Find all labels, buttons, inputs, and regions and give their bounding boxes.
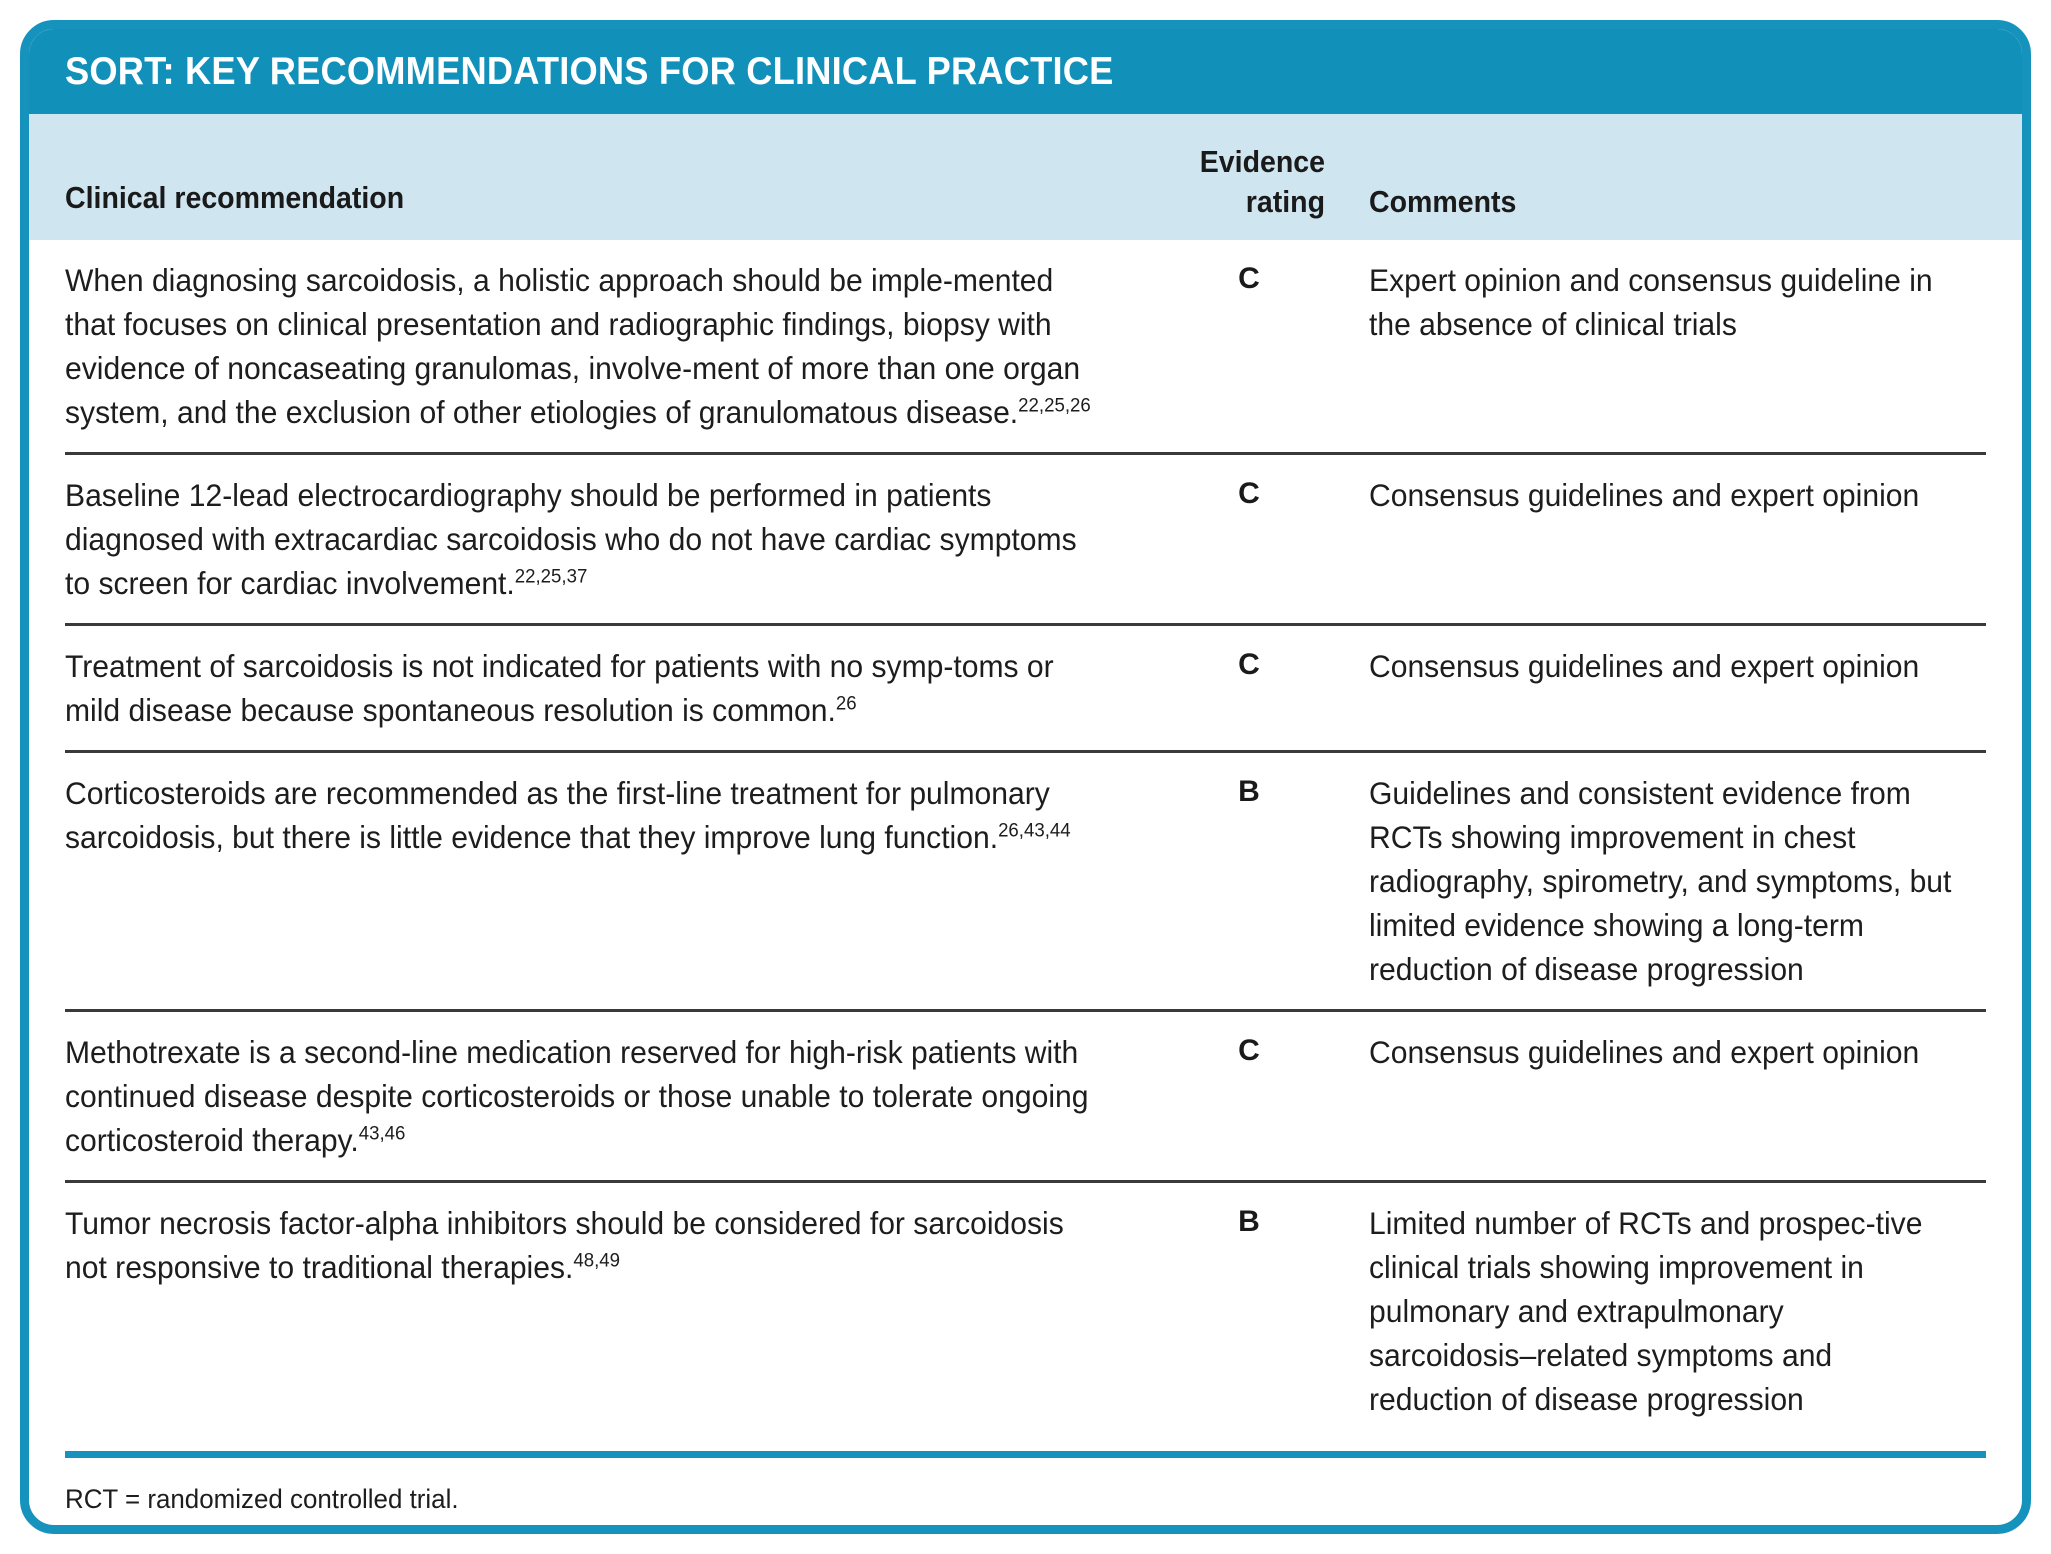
cell-comments: Limited number of RCTs and prospec-tive … — [1325, 1201, 1986, 1421]
table-row: Tumor necrosis factor-alpha inhibitors s… — [65, 1183, 1986, 1439]
page-title: SORT: KEY RECOMMENDATIONS FOR CLINICAL P… — [65, 50, 1114, 94]
cell-comments: Consensus guidelines and expert opinion — [1325, 644, 1986, 732]
recommendation-text: Treatment of sarcoidosis is not indicate… — [65, 648, 1054, 728]
footnote-divider — [65, 1451, 1986, 1458]
footnotes: RCT = randomized controlled trial. A = c… — [29, 1458, 2022, 1534]
cell-comments: Consensus guidelines and expert opinion — [1325, 1030, 1986, 1162]
cell-recommendation: Baseline 12-lead electrocardiography sho… — [65, 473, 1173, 605]
cell-comments: Guidelines and consistent evidence from … — [1325, 771, 1986, 991]
comments-text: Limited number of RCTs and prospec-tive … — [1369, 1201, 1958, 1421]
reference-superscript: 43,46 — [359, 1123, 406, 1145]
reference-superscript: 48,49 — [573, 1250, 620, 1272]
cell-recommendation: Corticosteroids are recommended as the f… — [65, 771, 1173, 991]
comments-text: Expert opinion and consensus guideline i… — [1369, 258, 1958, 346]
cell-recommendation: When diagnosing sarcoidosis, a holistic … — [65, 258, 1173, 434]
comments-text: Consensus guidelines and expert opinion — [1369, 1030, 1958, 1074]
table-row: Methotrexate is a second-line medication… — [65, 1012, 1986, 1183]
footnote-abbreviation: RCT = randomized controlled trial. — [65, 1480, 1909, 1518]
sort-recommendations-card: SORT: KEY RECOMMENDATIONS FOR CLINICAL P… — [20, 20, 2031, 1534]
recommendation-text: Methotrexate is a second-line medication… — [65, 1034, 1088, 1158]
table-row: Corticosteroids are recommended as the f… — [65, 753, 1986, 1012]
cell-evidence-rating: C — [1173, 644, 1325, 732]
cell-recommendation: Methotrexate is a second-line medication… — [65, 1030, 1173, 1162]
cell-evidence-rating: C — [1173, 473, 1325, 605]
reference-superscript: 22,25,37 — [515, 566, 588, 588]
reference-superscript: 26 — [836, 693, 857, 715]
table-row: Treatment of sarcoidosis is not indicate… — [65, 626, 1986, 753]
table-row: Baseline 12-lead electrocardiography sho… — [65, 455, 1986, 626]
comments-text: Guidelines and consistent evidence from … — [1369, 771, 1958, 991]
comments-text: Consensus guidelines and expert opinion — [1369, 644, 1958, 688]
comments-text: Consensus guidelines and expert opinion — [1369, 473, 1958, 517]
cell-evidence-rating: B — [1173, 1201, 1325, 1421]
table-column-headers: Clinical recommendation Evidence rating … — [29, 114, 2022, 240]
cell-evidence-rating: B — [1173, 771, 1325, 991]
reference-superscript: 26,43,44 — [998, 820, 1071, 842]
cell-comments: Expert opinion and consensus guideline i… — [1325, 258, 1986, 434]
table-row: When diagnosing sarcoidosis, a holistic … — [65, 240, 1986, 455]
column-header-evidence-line1: Evidence — [1187, 144, 1325, 180]
cell-comments: Consensus guidelines and expert opinion — [1325, 473, 1986, 605]
recommendation-text: Corticosteroids are recommended as the f… — [65, 775, 1050, 855]
recommendation-text: When diagnosing sarcoidosis, a holistic … — [65, 262, 1080, 430]
column-header-recommendation: Clinical recommendation — [65, 180, 404, 216]
footnote-spacer — [65, 1518, 1986, 1534]
cell-evidence-rating: C — [1173, 258, 1325, 434]
reference-superscript: 22,25,26 — [1018, 395, 1091, 417]
column-header-comments: Comments — [1369, 184, 1516, 220]
cell-evidence-rating: C — [1173, 1030, 1325, 1162]
column-header-evidence-line2: rating — [1187, 184, 1325, 220]
cell-recommendation: Treatment of sarcoidosis is not indicate… — [65, 644, 1173, 732]
recommendation-text: Tumor necrosis factor-alpha inhibitors s… — [65, 1205, 1064, 1285]
table-body: When diagnosing sarcoidosis, a holistic … — [29, 240, 2022, 1439]
cell-recommendation: Tumor necrosis factor-alpha inhibitors s… — [65, 1201, 1173, 1421]
card-title-band: SORT: KEY RECOMMENDATIONS FOR CLINICAL P… — [29, 29, 2022, 114]
